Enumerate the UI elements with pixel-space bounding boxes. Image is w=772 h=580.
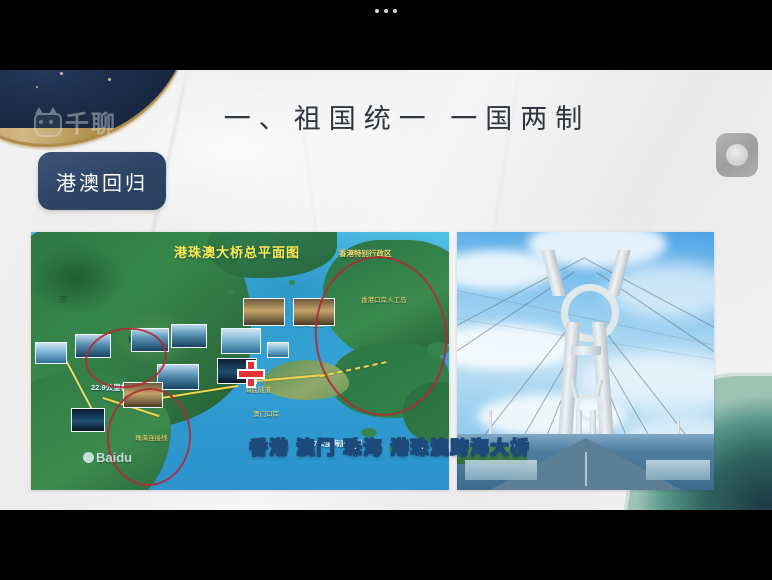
baidu-label: Baidu — [96, 450, 132, 465]
status-dot — [384, 9, 388, 13]
map-thumbnail — [71, 408, 105, 432]
islet — [227, 290, 234, 295]
slide-title: 一、祖国统一 一国两制 — [0, 97, 772, 136]
baidu-watermark: Baidu — [83, 450, 132, 465]
map-thumbnail — [267, 342, 289, 358]
map-thumbnail — [243, 298, 285, 326]
slide-canvas: 千聊 一、祖国统一 一国两制 港澳回归 — [0, 70, 772, 510]
caption-wrapper: 香港 澳门 珠海 港珠澳跨海大桥 — [190, 450, 590, 482]
top-letterbox — [0, 0, 772, 70]
map-thumbnail — [35, 342, 67, 364]
map-label-macau-port: 澳门口岸 — [253, 408, 279, 418]
bridge-railing — [646, 460, 710, 480]
islet — [289, 280, 295, 285]
record-circle-button[interactable] — [716, 133, 758, 177]
map-thumbnail — [221, 328, 261, 354]
map-label-city: 市 — [59, 294, 67, 305]
baidu-paw-icon — [83, 452, 94, 463]
map-thumbnail — [171, 324, 207, 348]
section-badge-label: 港澳回归 — [56, 167, 148, 196]
section-badge: 港澳回归 — [38, 152, 166, 210]
status-dots-indicator — [375, 9, 397, 13]
record-circle-icon — [726, 144, 748, 166]
screen: 千聊 一、祖国统一 一国两制 港澳回归 — [0, 0, 772, 580]
status-dot — [375, 9, 379, 13]
photo-caption: 香港 澳门 珠海 港珠澳跨海大桥 — [190, 434, 590, 460]
red-cross-marker — [237, 360, 265, 388]
bottom-letterbox — [0, 510, 772, 580]
map-title: 港珠澳大桥总平面图 — [174, 242, 300, 261]
status-dot — [393, 9, 397, 13]
